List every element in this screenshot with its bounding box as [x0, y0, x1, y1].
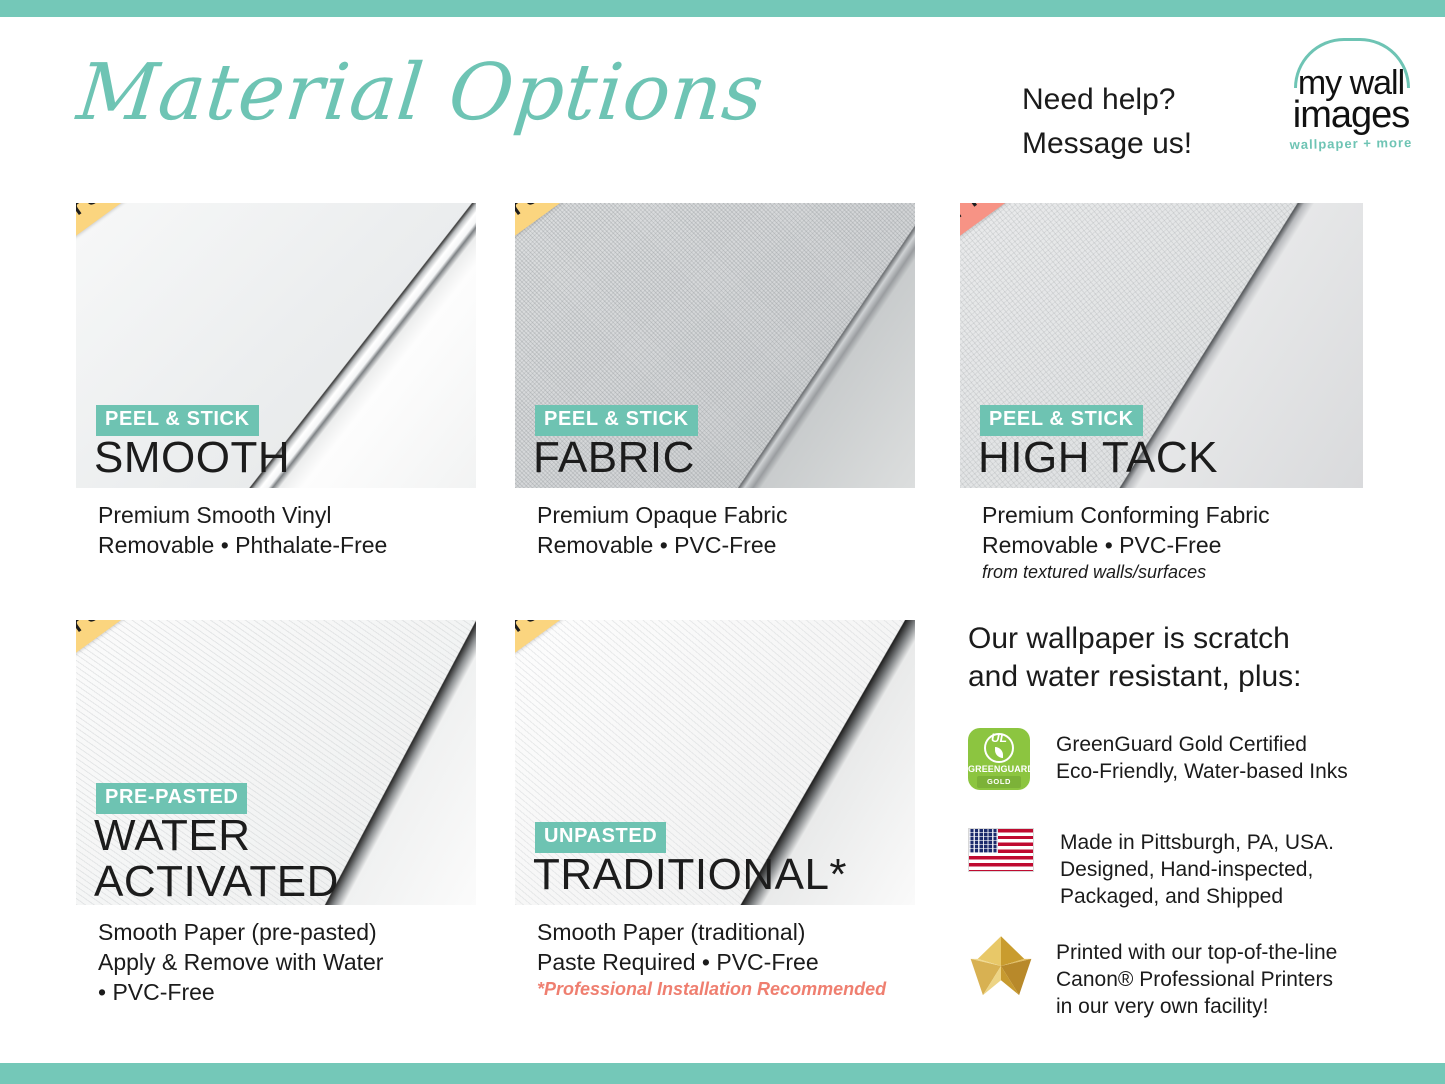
- material-desc-line2: Removable • PVC-Free: [982, 530, 1270, 560]
- feature-made-in-usa-text: Made in Pittsburgh, PA, USA. Designed, H…: [1060, 828, 1334, 910]
- feature-line3: Packaged, and Shipped: [1060, 883, 1334, 910]
- greenguard-gold-badge-icon: UL GREENGUARD GOLD: [968, 728, 1030, 790]
- material-desc-line2: Apply & Remove with Water: [98, 947, 383, 977]
- feature-line1: Made in Pittsburgh, PA, USA.: [1060, 829, 1334, 856]
- application-badge: UNPASTED: [535, 822, 666, 853]
- material-name: TRADITIONAL*: [533, 852, 847, 898]
- bottom-accent-bar: [0, 1063, 1445, 1084]
- material-card-high-tack[interactable]: for Textured Walls PEEL & STICK HIGH TAC…: [960, 203, 1363, 488]
- material-photo-water-activated: for Smooth Walls PRE-PASTED WATER ACTIVA…: [76, 620, 476, 905]
- material-description: Smooth Paper (traditional) Paste Require…: [537, 917, 886, 1001]
- material-description: Smooth Paper (pre-pasted) Apply & Remove…: [98, 917, 383, 1007]
- feature-line1: GreenGuard Gold Certified: [1056, 731, 1348, 758]
- application-badge: PEEL & STICK: [535, 405, 698, 436]
- material-desc-line2: Removable • Phthalate-Free: [98, 530, 387, 560]
- material-desc-line1: Premium Opaque Fabric: [537, 500, 788, 530]
- material-desc-line2: Paste Required • PVC-Free: [537, 947, 886, 977]
- material-photo-high-tack: for Textured Walls PEEL & STICK HIGH TAC…: [960, 203, 1363, 488]
- greenguard-ul-text: UL: [984, 731, 1014, 745]
- material-description: Premium Conforming Fabric Removable • PV…: [982, 500, 1270, 584]
- material-description: Premium Smooth Vinyl Removable • Phthala…: [98, 500, 387, 560]
- feature-canon-printers-text: Printed with our top-of-the-line Canon® …: [1056, 935, 1337, 1020]
- material-desc-line1: Premium Smooth Vinyl: [98, 500, 387, 530]
- material-desc-line1: Smooth Paper (pre-pasted): [98, 917, 383, 947]
- feature-greenguard: UL GREENGUARD GOLD GreenGuard Gold Certi…: [968, 728, 1348, 790]
- application-badge: PEEL & STICK: [980, 405, 1143, 436]
- material-desc-line2: Removable • PVC-Free: [537, 530, 788, 560]
- material-card-smooth[interactable]: for Smooth Walls PEEL & STICK SMOOTH Pre…: [76, 203, 476, 488]
- feature-canon-printers: Printed with our top-of-the-line Canon® …: [968, 935, 1337, 1020]
- material-photo-traditional: for Smooth Walls UNPASTED TRADITIONAL*: [515, 620, 915, 905]
- page-title: Material Options: [73, 48, 768, 138]
- material-photo-fabric: for Smooth Walls PEEL & STICK FABRIC: [515, 203, 915, 488]
- usa-flag-icon: [968, 828, 1034, 872]
- top-accent-bar: [0, 0, 1445, 17]
- logo-word-bottom: images: [1276, 94, 1426, 137]
- wall-type-ribbon: for Smooth Walls: [515, 620, 717, 700]
- features-heading: Our wallpaper is scratch and water resis…: [968, 620, 1388, 696]
- features-heading-line1: Our wallpaper is scratch: [968, 620, 1388, 658]
- application-badge: PRE-PASTED: [96, 783, 247, 814]
- greenguard-gold-text: GOLD: [977, 776, 1021, 788]
- greenguard-name-text: GREENGUARD: [968, 764, 1030, 774]
- feature-made-in-usa: Made in Pittsburgh, PA, USA. Designed, H…: [968, 828, 1334, 910]
- flag-canton-icon: [969, 829, 998, 853]
- material-name-line2: ACTIVATED: [94, 859, 339, 905]
- material-card-traditional[interactable]: for Smooth Walls UNPASTED TRADITIONAL* S…: [515, 620, 915, 905]
- material-desc-line1: Smooth Paper (traditional): [537, 917, 886, 947]
- material-name: WATER ACTIVATED: [94, 813, 339, 905]
- material-note: from textured walls/surfaces: [982, 560, 1270, 584]
- material-card-water-activated[interactable]: for Smooth Walls PRE-PASTED WATER ACTIVA…: [76, 620, 476, 905]
- feature-line2: Designed, Hand-inspected,: [1060, 856, 1334, 883]
- wall-type-ribbon: for Smooth Walls: [76, 203, 278, 283]
- material-options-page: Material Options Need help? Message us! …: [0, 0, 1445, 1084]
- wall-type-ribbon: for Smooth Walls: [76, 620, 278, 700]
- logo-tagline: wallpaper + more: [1276, 135, 1426, 153]
- material-description: Premium Opaque Fabric Removable • PVC-Fr…: [537, 500, 788, 560]
- material-photo-smooth: for Smooth Walls PEEL & STICK SMOOTH: [76, 203, 476, 488]
- features-heading-line2: and water resistant, plus:: [968, 658, 1388, 696]
- material-name: FABRIC: [533, 435, 695, 481]
- brand-logo: my wall images wallpaper + more: [1276, 36, 1426, 166]
- application-badge: PEEL & STICK: [96, 405, 259, 436]
- gold-star-icon: [968, 935, 1034, 997]
- feature-line1: Printed with our top-of-the-line: [1056, 939, 1337, 966]
- material-name-line1: WATER: [94, 813, 339, 859]
- material-name: HIGH TACK: [978, 435, 1218, 481]
- feature-greenguard-text: GreenGuard Gold Certified Eco-Friendly, …: [1056, 728, 1348, 790]
- feature-line2: Canon® Professional Printers: [1056, 966, 1337, 993]
- wall-type-ribbon: for Smooth Walls: [515, 203, 717, 283]
- wall-type-ribbon: for Textured Walls: [960, 203, 1162, 283]
- need-help-line1: Need help?: [1022, 78, 1192, 122]
- material-name: SMOOTH: [94, 435, 290, 481]
- material-desc-line1: Premium Conforming Fabric: [982, 500, 1270, 530]
- material-desc-line3: • PVC-Free: [98, 977, 383, 1007]
- material-note: *Professional Installation Recommended: [537, 977, 886, 1001]
- feature-line3: in our very own facility!: [1056, 993, 1337, 1020]
- need-help-text: Need help? Message us!: [1022, 78, 1192, 166]
- need-help-line2: Message us!: [1022, 122, 1192, 166]
- feature-line2: Eco-Friendly, Water-based Inks: [1056, 758, 1348, 785]
- material-card-fabric[interactable]: for Smooth Walls PEEL & STICK FABRIC Pre…: [515, 203, 915, 488]
